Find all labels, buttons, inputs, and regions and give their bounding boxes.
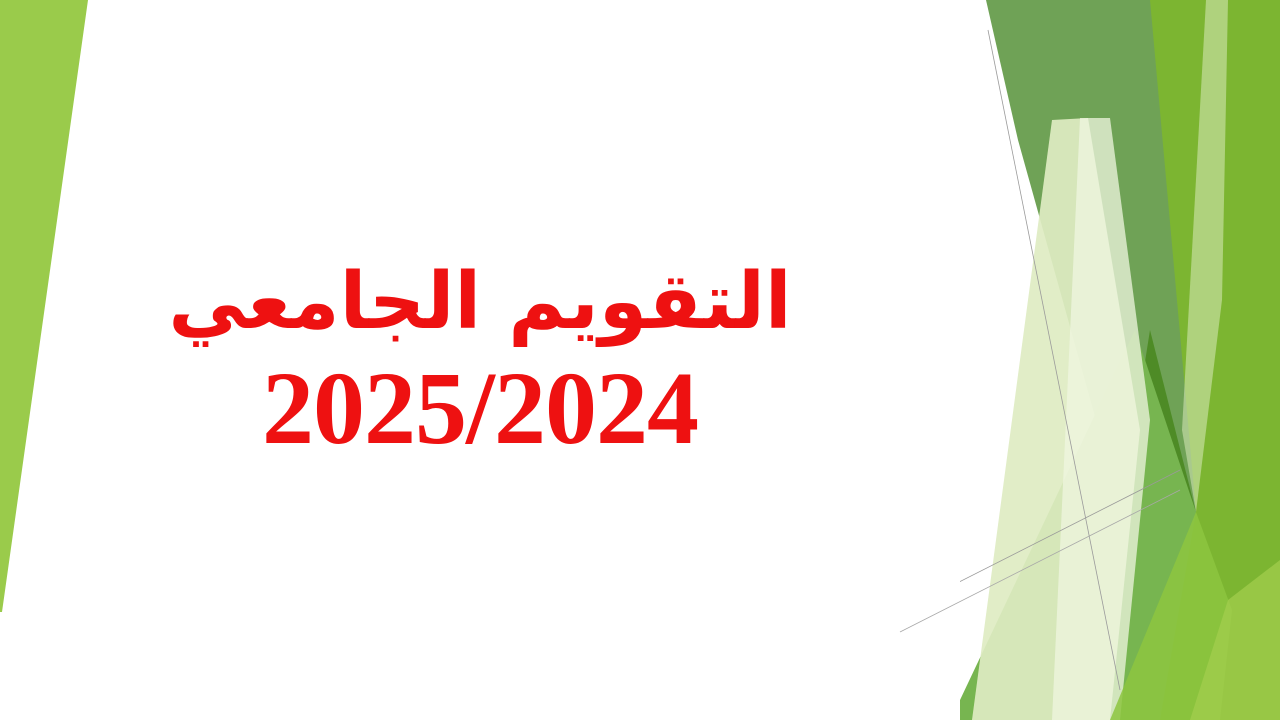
facet-dark-sliver xyxy=(1128,330,1196,560)
title-block: التقويم الجامعي 2025/2024 xyxy=(0,0,960,720)
facet-medium-band xyxy=(960,330,1196,720)
right-facet-panel xyxy=(960,0,1280,720)
facet-lower-bright xyxy=(1110,512,1232,720)
facet-bottom-right-light xyxy=(1190,560,1280,720)
hairline-steep xyxy=(988,30,1120,690)
facet-pale-wedge xyxy=(972,118,1140,720)
hairline-shallow xyxy=(960,0,1160,620)
hairline-shallow-visible xyxy=(960,470,1180,612)
title-academic-year: 2025/2024 xyxy=(262,351,698,461)
slide-canvas: التقويم الجامعي 2025/2024 xyxy=(0,0,1280,720)
facet-muted-plane xyxy=(986,0,1196,560)
facet-bright-right xyxy=(1080,0,1280,720)
title-arabic: التقويم الجامعي xyxy=(168,259,791,350)
facet-highlight-wedge xyxy=(1052,118,1150,720)
facet-right-pale-wedge xyxy=(1182,0,1228,512)
